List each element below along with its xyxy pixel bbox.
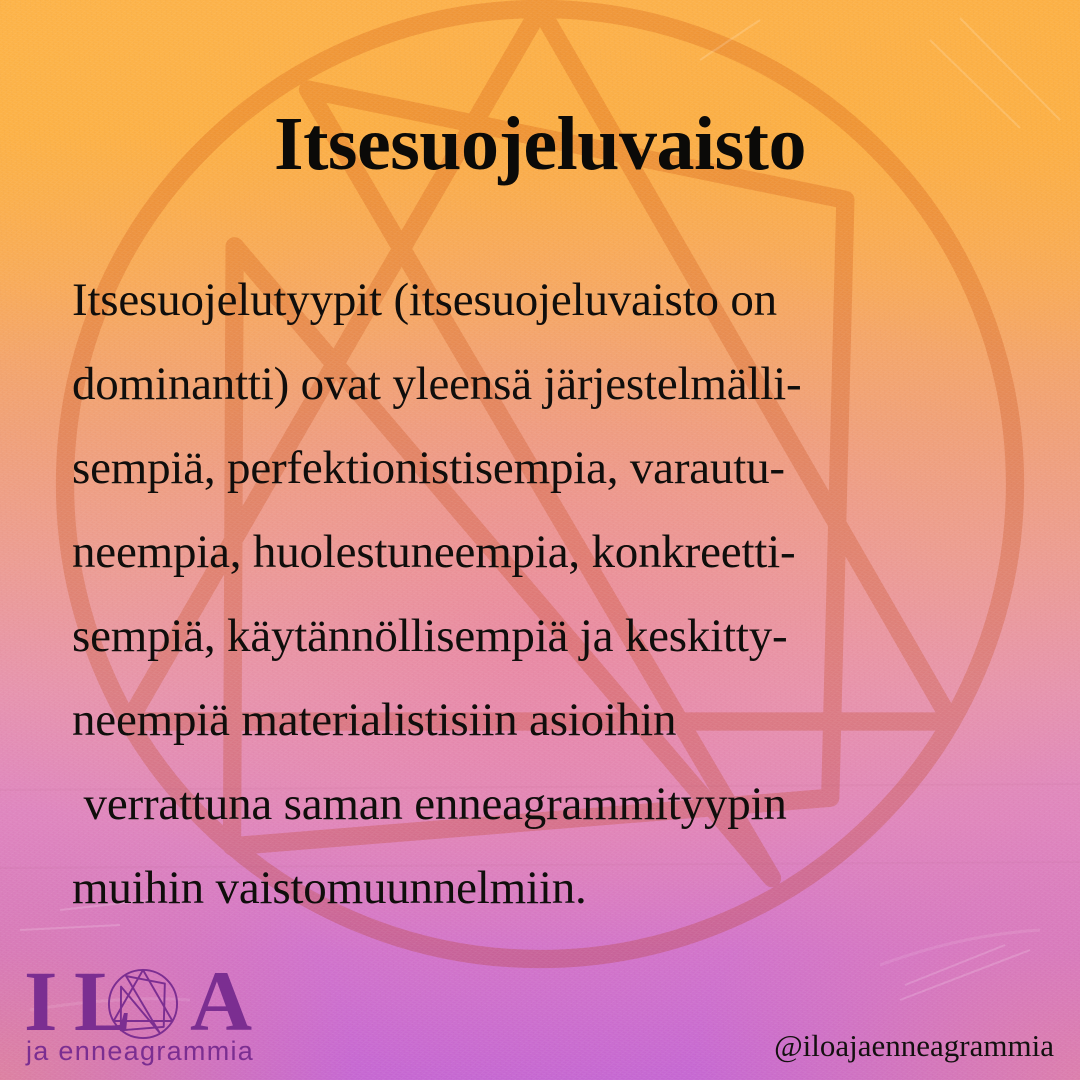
body-line: sempiä, perfektionistisempia, varautu-	[72, 426, 1016, 510]
social-post-canvas: Itsesuojeluvaisto Itsesuojelutyypit (its…	[0, 0, 1080, 1080]
body-text: Itsesuojelutyypit (itsesuojeluvaisto on …	[72, 258, 1016, 930]
body-line: Itsesuojelutyypit (itsesuojeluvaisto on	[72, 258, 1016, 342]
logo-letter-i: I	[24, 964, 57, 1038]
body-line: dominantti) ovat yleensä järjestelmälli-	[72, 342, 1016, 426]
logo-wordmark: I L A	[22, 964, 258, 1038]
logo-letter-a: A	[190, 964, 252, 1038]
post-content: Itsesuojeluvaisto Itsesuojelutyypit (its…	[0, 0, 1080, 1080]
page-title: Itsesuojeluvaisto	[0, 106, 1080, 182]
body-line: verrattuna saman enneagrammityypin	[72, 762, 1016, 846]
body-line: muihin vaistomuunnelmiin.	[72, 846, 1016, 930]
logo-subtitle: ja enneagrammia	[26, 1036, 254, 1067]
body-line: sempiä, käytännöllisempiä ja keskitty-	[72, 594, 1016, 678]
body-line: neempiä materialistisiin asioihin	[72, 678, 1016, 762]
body-line: neempia, huolestuneempia, konkreetti-	[72, 510, 1016, 594]
social-handle[interactable]: @iloajaenneagrammia	[774, 1028, 1054, 1064]
enneagram-symbol-icon	[106, 967, 180, 1041]
brand-logo[interactable]: I L A ja enneagrammia	[22, 964, 262, 1072]
